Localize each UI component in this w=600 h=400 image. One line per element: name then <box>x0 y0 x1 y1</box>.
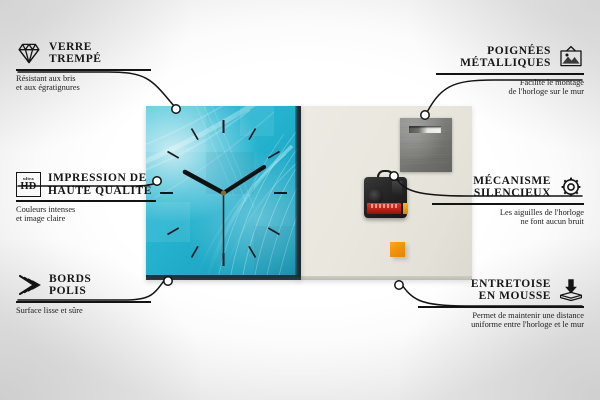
callout-title: POIGNÉES MÉTALLIQUES <box>460 45 551 70</box>
callout-title: BORDS POLIS <box>49 273 91 298</box>
callout-mecanisme-silencieux: MÉCANISME SILENCIEUX <box>432 174 584 227</box>
ultra-hd-icon: ultra HD <box>16 172 41 197</box>
product-image <box>146 106 472 280</box>
mechanism-shaft <box>368 189 383 204</box>
callout-description: Facilite le montage de l'horloge sur le … <box>436 75 584 98</box>
callout-title: ENTRETOISE EN MOUSSE <box>471 278 551 303</box>
clock-glass-bottom-edge <box>146 275 301 280</box>
hanger-plate <box>400 118 452 172</box>
foam-spacer <box>390 242 405 257</box>
battery-terminal <box>403 203 408 214</box>
callout-impression-haute-qualite: ultra HD IMPRESSION DE HAUTE QUALITÉ Cou… <box>16 172 156 224</box>
clock-hands <box>146 106 301 280</box>
picture-hanger-icon <box>558 44 584 70</box>
clock-mechanism <box>364 170 407 218</box>
callout-description: Surface lisse et sûre <box>16 303 151 316</box>
callout-description: Résistant aux bris et aux égratignures <box>16 71 151 94</box>
gear-icon <box>558 174 584 200</box>
clock-face <box>146 106 301 280</box>
callout-description: Permet de maintenir une distance uniform… <box>418 308 584 331</box>
clock-glass-right-edge <box>295 106 301 280</box>
polished-edges-icon <box>16 272 42 298</box>
mechanism-vent <box>392 181 402 195</box>
ultra-hd-icon-main-text: HD <box>20 182 36 193</box>
infographic-canvas: VERRE TREMPÉ Résistant aux bris et aux é… <box>0 0 600 400</box>
callout-entretoise-en-mousse: ENTRETOISE EN MOUSSE Permet de maintenir… <box>418 277 584 330</box>
foam-spacer-arrow-icon <box>558 277 584 303</box>
callout-title: MÉCANISME SILENCIEUX <box>473 175 551 200</box>
callout-verre-trempe: VERRE TREMPÉ Résistant aux bris et aux é… <box>16 40 151 93</box>
callout-poignees-metalliques: POIGNÉES MÉTALLIQUES Facilite le montage… <box>436 44 584 97</box>
callout-description: Les aiguilles de l'horloge ne font aucun… <box>432 205 584 228</box>
hour-hand <box>185 172 224 193</box>
diamond-icon <box>16 40 42 66</box>
hanger-slot <box>409 126 441 133</box>
callout-bords-polis: BORDS POLIS Surface lisse et sûre <box>16 272 151 315</box>
clock-center-cap <box>221 190 226 195</box>
mechanism-body <box>364 177 407 218</box>
callout-title: VERRE TREMPÉ <box>49 41 102 66</box>
battery-label <box>371 204 397 208</box>
callout-title: IMPRESSION DE HAUTE QUALITÉ <box>48 172 152 197</box>
minute-hand <box>224 167 265 193</box>
callout-description: Couleurs intenses et image claire <box>16 202 156 225</box>
battery <box>367 203 401 214</box>
connector-endpoint-entretoise <box>395 281 403 289</box>
